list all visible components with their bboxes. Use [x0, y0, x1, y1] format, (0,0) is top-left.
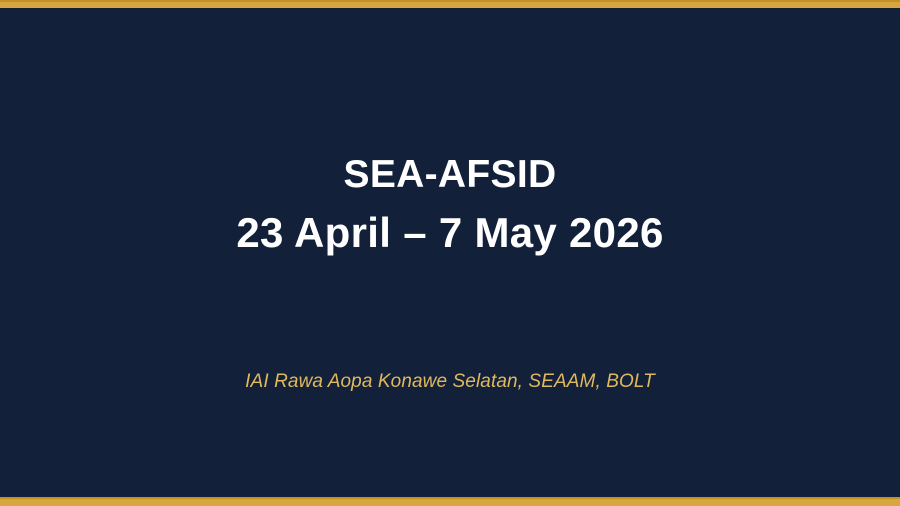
subtitle-block: IAI Rawa Aopa Konawe Selatan, SEAAM, BOL… — [0, 371, 900, 394]
title-slide: SEA-AFSID 23 April – 7 May 2026 IAI Rawa… — [0, 0, 900, 506]
slide-title-line-1: SEA-AFSID — [0, 155, 900, 212]
slide-subtitle: IAI Rawa Aopa Konawe Selatan, SEAAM, BOL… — [245, 371, 655, 394]
title-block: SEA-AFSID 23 April – 7 May 2026 — [0, 155, 900, 254]
slide-title-line-2: 23 April – 7 May 2026 — [0, 212, 900, 254]
top-accent-rule — [0, 0, 900, 8]
bottom-accent-rule — [0, 497, 900, 506]
